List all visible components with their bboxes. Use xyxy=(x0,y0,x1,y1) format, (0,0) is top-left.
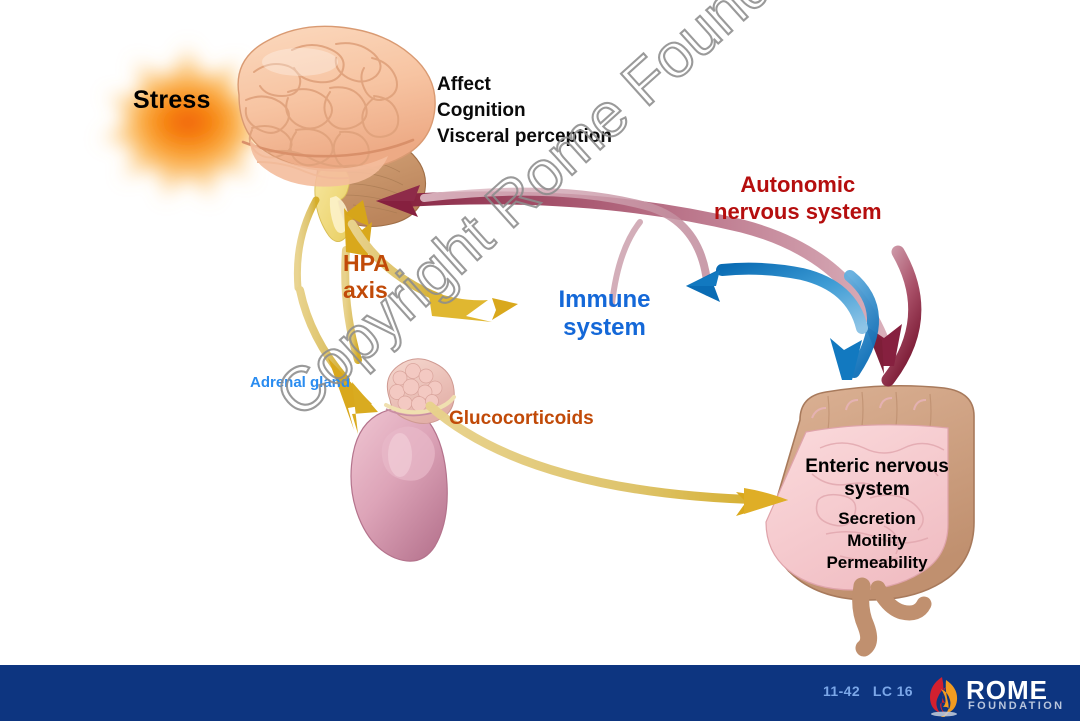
rome-foundation-logo: ROME FOUNDATION xyxy=(922,673,1072,717)
flame-icon xyxy=(922,673,966,717)
arrow-hpa-brain-to-adrenal xyxy=(300,290,378,434)
logo-foundation-text: FOUNDATION xyxy=(968,700,1065,712)
brain-functions-label: Affect Cognition Visceral perception xyxy=(437,72,612,151)
footer-bar: 11-42 LC 16 ROME FOUNDATION xyxy=(0,665,1080,721)
arrow-stress-to-brain xyxy=(297,200,316,288)
autonomic-nervous-system-label: Autonomic nervous system xyxy=(714,172,882,226)
adrenal-gland-label: Adrenal gland xyxy=(250,374,350,392)
enteric-functions-label: Secretion Motility Permeability xyxy=(779,508,975,573)
slide-canvas: Stress Affect Cognition Visceral percept… xyxy=(0,0,1080,721)
hpa-axis-label: HPA axis xyxy=(343,250,390,304)
immune-system-label: Immune system xyxy=(522,286,687,342)
glucocorticoids-label: Glucocorticoids xyxy=(449,408,594,430)
adrenal-gland-illustration xyxy=(351,359,454,561)
slide-code-label: 11-42 LC 16 xyxy=(823,683,913,699)
stress-label: Stress xyxy=(133,86,211,116)
enteric-nervous-system-label: Enteric nervous system xyxy=(779,456,975,502)
